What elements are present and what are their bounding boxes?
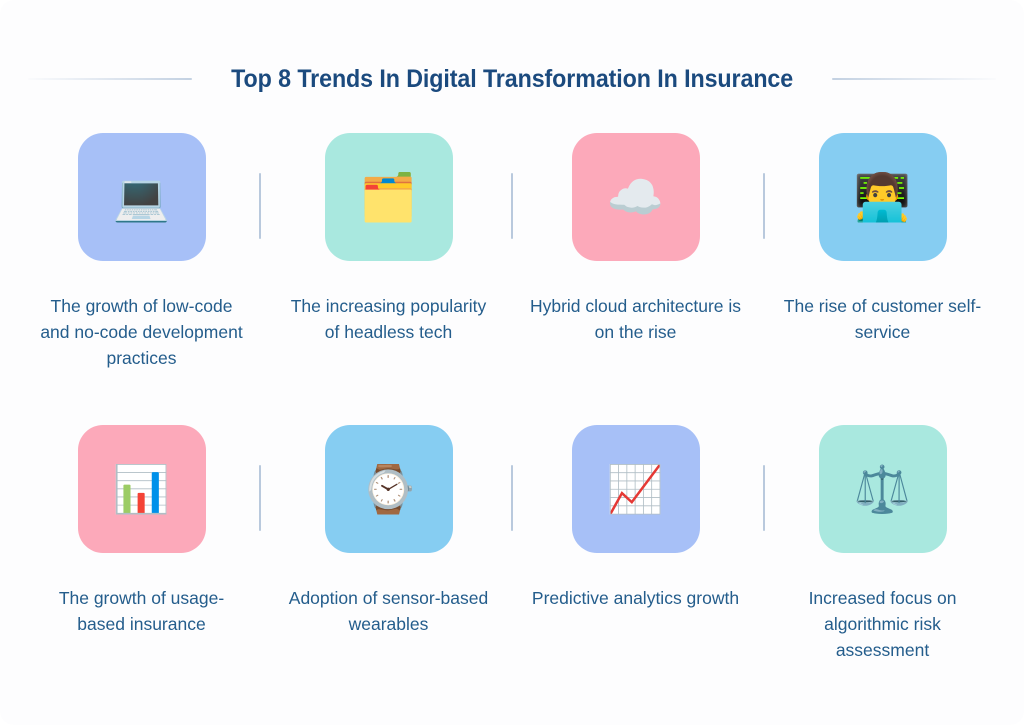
column-divider-1 — [259, 173, 261, 239]
laptop-icon: 💻 — [113, 174, 170, 220]
trends-row-1: 💻 The growth of low-code and no-code dev… — [18, 133, 1006, 425]
header-rule-right — [832, 78, 996, 80]
column-divider-3 — [763, 173, 765, 239]
trend-label-1: The growth of low-code and no-code devel… — [36, 293, 248, 371]
trend-card-4[interactable]: 👨‍💻 The rise of customer self-service — [759, 133, 1006, 345]
page-title: Top 8 Trends In Digital Transformation I… — [231, 65, 793, 94]
column-divider-4 — [259, 465, 261, 531]
trend-label-6: Adoption of sensor-based wearables — [283, 585, 495, 637]
trend-card-8[interactable]: ⚖️ Increased focus on algorithmic risk a… — [759, 425, 1006, 663]
column-divider-2 — [511, 173, 513, 239]
card-index-dividers-icon: 🗂️ — [360, 174, 417, 220]
trend-tile-1: 💻 — [78, 133, 206, 261]
trend-card-1[interactable]: 💻 The growth of low-code and no-code dev… — [18, 133, 265, 371]
trend-card-2[interactable]: 🗂️ The increasing popularity of headless… — [265, 133, 512, 345]
trend-tile-4: 👨‍💻 — [819, 133, 947, 261]
trend-tile-3: ☁️ — [572, 133, 700, 261]
chart-increasing-icon: 📈 — [607, 466, 664, 512]
header-rule-left — [28, 78, 192, 80]
trend-tile-5: 📊 — [78, 425, 206, 553]
trend-card-7[interactable]: 📈 Predictive analytics growth — [512, 425, 759, 611]
trend-label-3: Hybrid cloud architecture is on the rise — [530, 293, 742, 345]
trend-label-2: The increasing popularity of headless te… — [283, 293, 495, 345]
watch-icon: ⌚ — [360, 466, 417, 512]
cloud-icon: ☁️ — [607, 174, 664, 220]
bar-chart-icon: 📊 — [113, 466, 170, 512]
balance-scale-icon: ⚖️ — [854, 466, 911, 512]
trend-label-8: Increased focus on algorithmic risk asse… — [777, 585, 989, 663]
trend-card-6[interactable]: ⌚ Adoption of sensor-based wearables — [265, 425, 512, 637]
column-divider-5 — [511, 465, 513, 531]
trend-label-4: The rise of customer self-service — [777, 293, 989, 345]
trend-tile-8: ⚖️ — [819, 425, 947, 553]
trend-tile-2: 🗂️ — [325, 133, 453, 261]
infographic-page: Top 8 Trends In Digital Transformation I… — [0, 0, 1024, 725]
trends-row-2: 📊 The growth of usage-based insurance ⌚ … — [18, 425, 1006, 717]
trend-label-7: Predictive analytics growth — [530, 585, 742, 611]
trend-label-5: The growth of usage-based insurance — [36, 585, 248, 637]
header: Top 8 Trends In Digital Transformation I… — [28, 62, 996, 96]
trend-tile-7: 📈 — [572, 425, 700, 553]
technologist-person-icon: 👨‍💻 — [854, 174, 911, 220]
trend-tile-6: ⌚ — [325, 425, 453, 553]
trends-grid: 💻 The growth of low-code and no-code dev… — [18, 133, 1006, 717]
trend-card-3[interactable]: ☁️ Hybrid cloud architecture is on the r… — [512, 133, 759, 345]
column-divider-6 — [763, 465, 765, 531]
trend-card-5[interactable]: 📊 The growth of usage-based insurance — [18, 425, 265, 637]
